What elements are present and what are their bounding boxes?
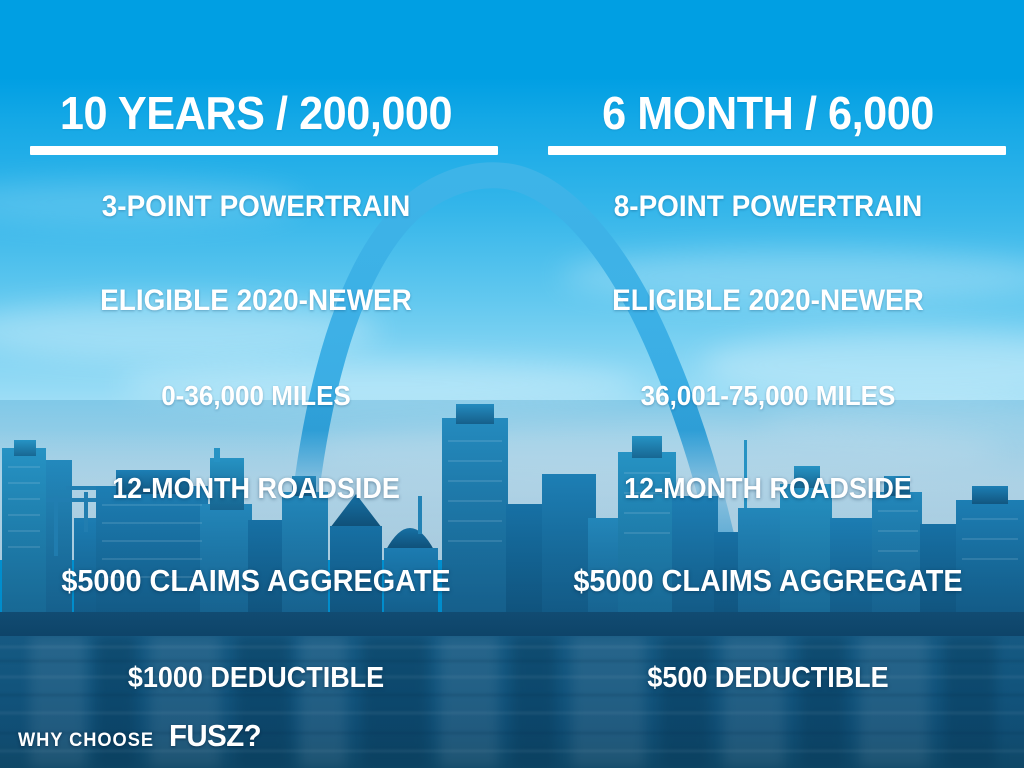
slide-content: 10 YEARS / 200,000 3-POINT POWERTRAIN EL… bbox=[0, 0, 1024, 768]
plan-item-left-2: 0-36,000 MILES bbox=[18, 380, 494, 412]
plan-item-right-3: 12-MONTH ROADSIDE bbox=[530, 473, 1006, 506]
slide-canvas: 10 YEARS / 200,000 3-POINT POWERTRAIN EL… bbox=[0, 0, 1024, 768]
plan-heading-right: 6 MONTH / 6,000 bbox=[527, 90, 1008, 136]
plan-item-left-4: $5000 CLAIMS AGGREGATE bbox=[18, 563, 494, 599]
plan-column-left: 10 YEARS / 200,000 3-POINT POWERTRAIN EL… bbox=[0, 0, 512, 768]
plan-item-left-0: 3-POINT POWERTRAIN bbox=[18, 190, 494, 224]
plan-item-left-5: $1000 DEDUCTIBLE bbox=[18, 662, 494, 695]
plan-column-right: 6 MONTH / 6,000 8-POINT POWERTRAIN ELIGI… bbox=[512, 0, 1024, 768]
brand-name: FUSZ? bbox=[169, 718, 261, 754]
brand-lockup: WHY CHOOSE FUSZ? bbox=[18, 718, 265, 754]
heading-underline-left bbox=[30, 146, 498, 155]
heading-underline-right bbox=[548, 146, 1006, 155]
plan-item-right-5: $500 DEDUCTIBLE bbox=[530, 662, 1006, 695]
plan-item-right-0: 8-POINT POWERTRAIN bbox=[530, 190, 1006, 224]
plan-item-left-3: 12-MONTH ROADSIDE bbox=[18, 473, 494, 506]
plan-item-left-1: ELIGIBLE 2020-NEWER bbox=[18, 284, 494, 318]
plan-item-right-2: 36,001-75,000 MILES bbox=[530, 380, 1006, 412]
plan-item-right-1: ELIGIBLE 2020-NEWER bbox=[530, 284, 1006, 318]
plan-item-right-4: $5000 CLAIMS AGGREGATE bbox=[530, 563, 1006, 599]
plan-heading-left: 10 YEARS / 200,000 bbox=[15, 90, 496, 136]
brand-tagline: WHY CHOOSE bbox=[18, 730, 154, 752]
